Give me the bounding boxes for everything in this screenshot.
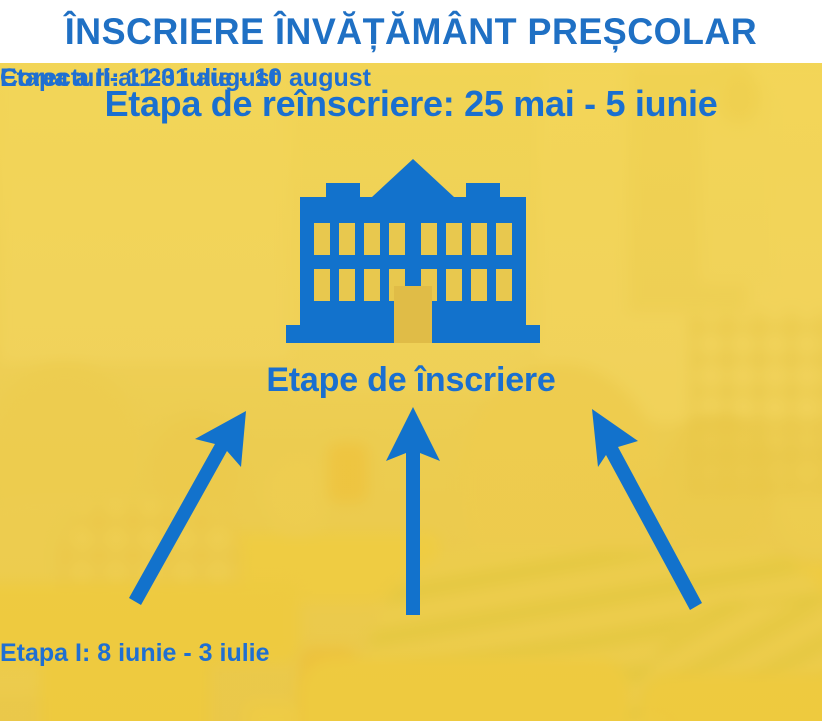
classroom-photo-stage: Etapa de reînscriere: 25 mai - 5 iunie bbox=[0, 63, 822, 721]
stage-label-period: 11-31 august bbox=[126, 64, 277, 92]
poster-content: Etapa de reînscriere: 25 mai - 5 iunie bbox=[0, 63, 822, 721]
stage-label-title: Corecturi: bbox=[0, 64, 119, 92]
arrow-up-right-icon bbox=[105, 403, 265, 618]
stages-heading: Etape de înscriere bbox=[0, 361, 822, 400]
stage-label-corecturi: Corecturi: 11-31 august bbox=[0, 63, 278, 94]
arrow-up-left-icon bbox=[580, 403, 720, 618]
preschool-enrollment-poster: ÎNSCRIERE ÎNVĂȚĂMÂNT PREȘCOLAR bbox=[0, 0, 822, 721]
school-building-icon bbox=[268, 153, 558, 353]
stage-label-title: Etapa I: bbox=[0, 639, 90, 667]
poster-title-band: ÎNSCRIERE ÎNVĂȚĂMÂNT PREȘCOLAR bbox=[0, 0, 822, 63]
page-title: ÎNSCRIERE ÎNVĂȚĂMÂNT PREȘCOLAR bbox=[65, 11, 758, 53]
arrow-up-icon bbox=[378, 403, 448, 618]
stage-label-period: 8 iunie - 3 iulie bbox=[97, 639, 269, 667]
stage-label-etapa-1: Etapa I: 8 iunie - 3 iulie bbox=[0, 638, 260, 669]
